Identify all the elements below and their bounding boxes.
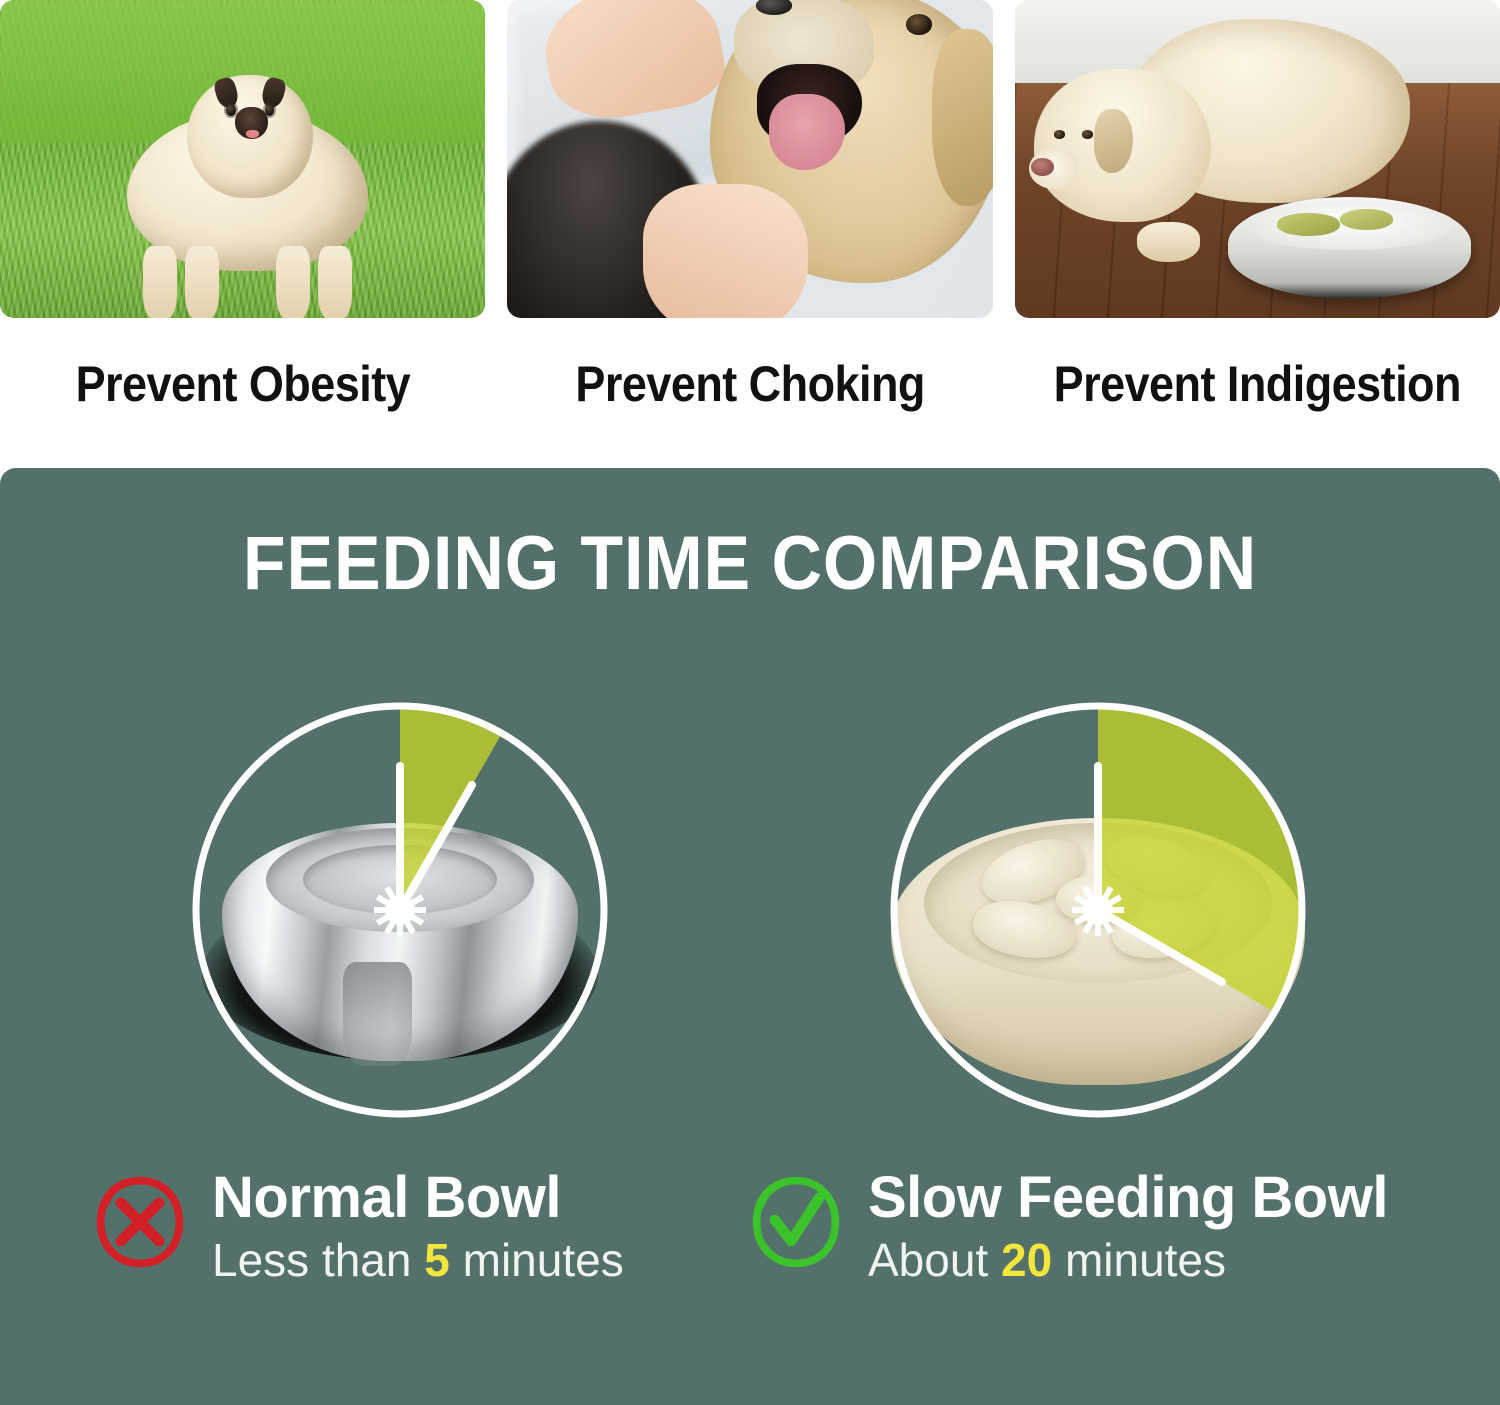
clock-dial-normal xyxy=(170,680,630,1140)
verdict-sub-normal: Less than 5 minutes xyxy=(212,1234,624,1287)
caption-cell-indigestion: Prevent Indigestion xyxy=(1015,336,1500,432)
caption-prevent-indigestion: Prevent Indigestion xyxy=(1054,355,1461,413)
cross-icon xyxy=(92,1174,188,1270)
photo-card-prevent-obesity xyxy=(0,0,485,318)
clock-comparison-row xyxy=(0,680,1500,1150)
panel-title: FEEDING TIME COMPARISON xyxy=(60,520,1440,607)
verdict-normal-bowl: Normal Bowl Less than 5 minutes xyxy=(92,1168,624,1287)
verdict-sub-prefix-slow: About xyxy=(868,1234,1001,1286)
pug-illustration xyxy=(116,70,378,299)
verdict-sub-value-normal: 5 xyxy=(424,1234,450,1286)
indigestion-dog-photo xyxy=(1015,0,1500,318)
verdict-text-slow: Slow Feeding Bowl About 20 minutes xyxy=(868,1168,1388,1287)
verdict-row: Normal Bowl Less than 5 minutes Slow Fee… xyxy=(0,1168,1500,1348)
verdict-slow-feeding-bowl: Slow Feeding Bowl About 20 minutes xyxy=(748,1168,1388,1287)
benefit-captions: Prevent Obesity Prevent Choking Prevent … xyxy=(0,336,1500,432)
caption-cell-obesity: Prevent Obesity xyxy=(0,336,485,432)
verdict-sub-value-slow: 20 xyxy=(1001,1234,1052,1286)
clock-dial-slow xyxy=(868,680,1328,1140)
verdict-sub-suffix-normal: minutes xyxy=(450,1234,624,1286)
verdict-sub-suffix-slow: minutes xyxy=(1052,1234,1226,1286)
verdict-sub-slow: About 20 minutes xyxy=(868,1234,1388,1287)
verdict-title-slow: Slow Feeding Bowl xyxy=(868,1168,1388,1228)
verdict-text-normal: Normal Bowl Less than 5 minutes xyxy=(212,1168,624,1287)
caption-prevent-obesity: Prevent Obesity xyxy=(75,355,410,413)
fat-pug-photo xyxy=(0,0,485,318)
verdict-sub-prefix-normal: Less than xyxy=(212,1234,424,1286)
hand-hub xyxy=(1083,895,1113,925)
infographic-page: Prevent Obesity Prevent Choking Prevent … xyxy=(0,0,1500,1405)
feeding-time-comparison-panel: FEEDING TIME COMPARISON xyxy=(0,468,1500,1405)
clock-slow-feeding-bowl xyxy=(868,680,1328,1140)
caption-cell-choking: Prevent Choking xyxy=(507,336,992,432)
photo-card-prevent-choking xyxy=(507,0,992,318)
caption-prevent-choking: Prevent Choking xyxy=(575,355,924,413)
floor-food-bowl xyxy=(1228,197,1471,299)
verdict-title-normal: Normal Bowl xyxy=(212,1168,624,1228)
hand-lower xyxy=(643,184,808,318)
choking-dog-photo xyxy=(507,0,992,318)
check-icon xyxy=(748,1174,844,1270)
clock-normal-bowl xyxy=(170,680,630,1140)
hand-hub xyxy=(385,895,415,925)
photo-card-prevent-indigestion xyxy=(1015,0,1500,318)
benefit-photo-strip xyxy=(0,0,1500,318)
